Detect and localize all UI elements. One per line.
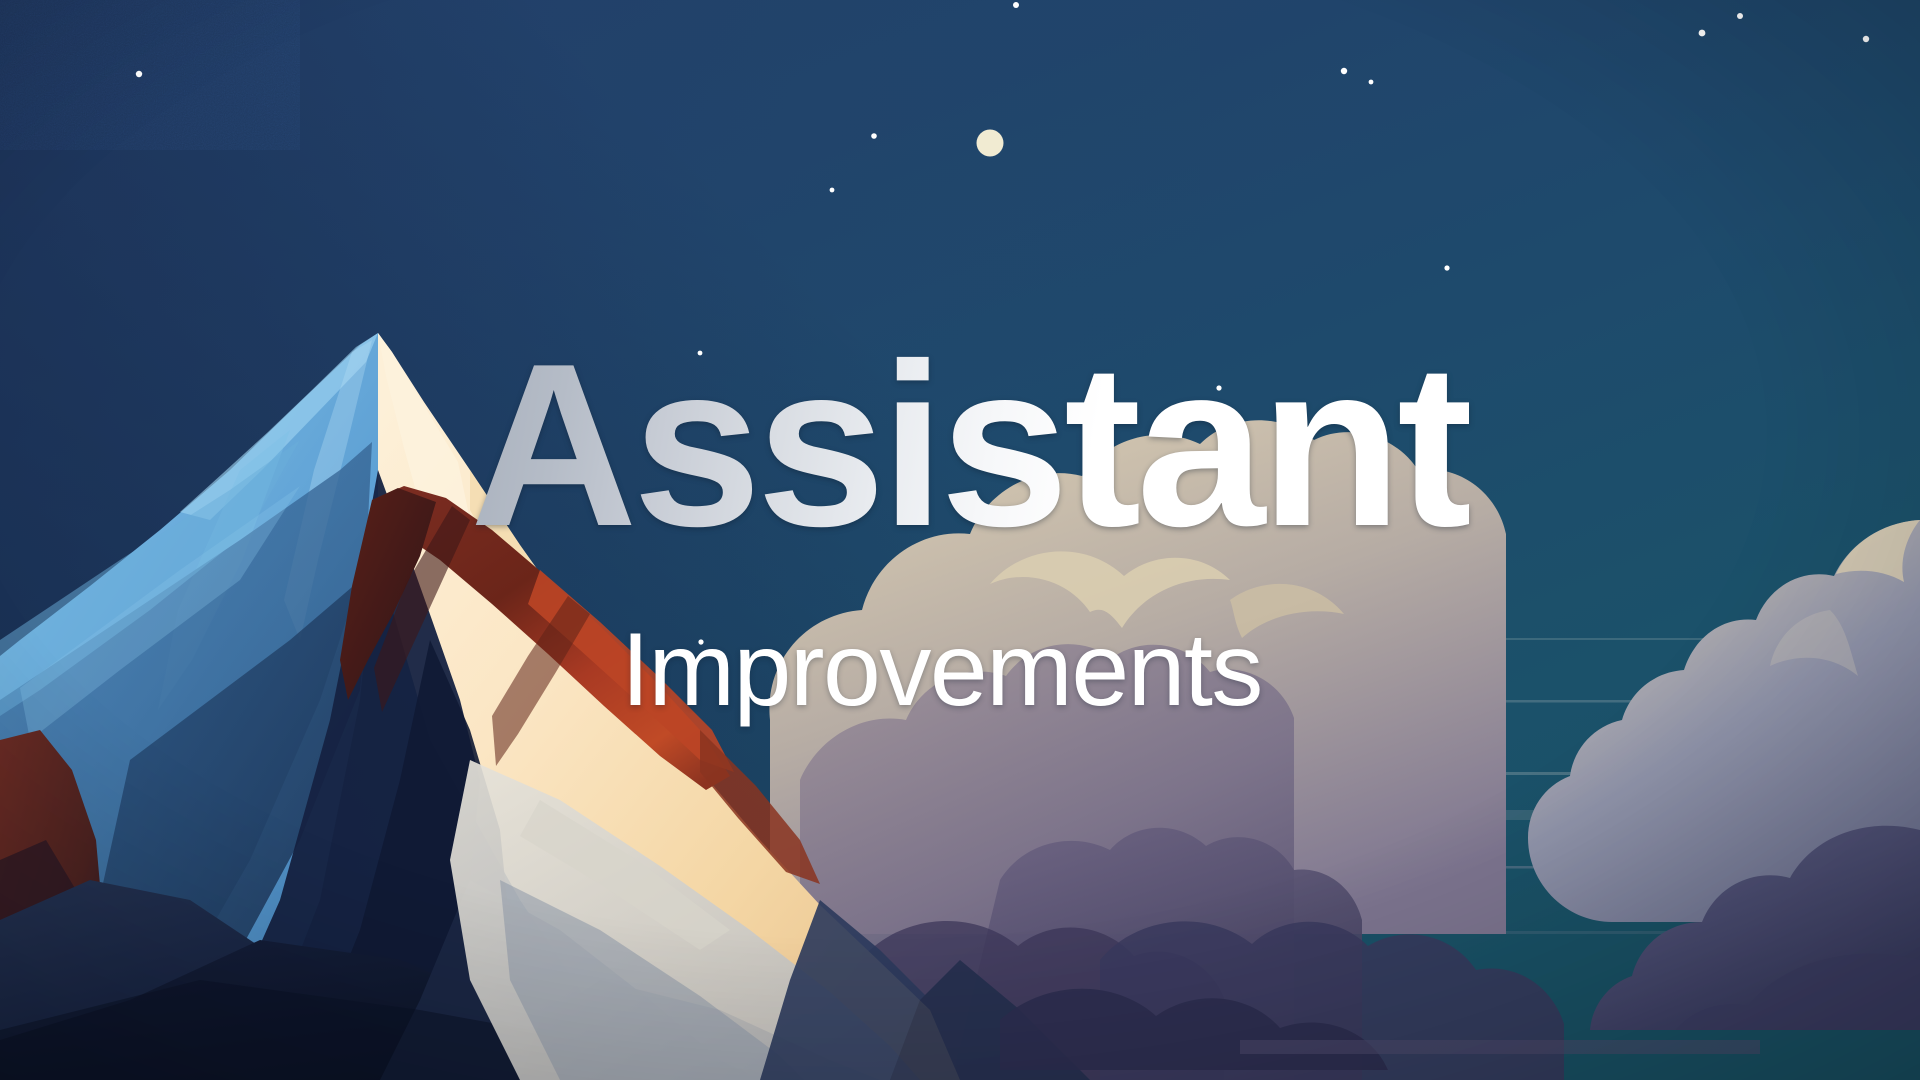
mountain-night-illustration <box>0 0 1920 1080</box>
vignette <box>0 0 1920 1080</box>
slide-canvas: Assistant Improvements <box>0 0 1920 1080</box>
